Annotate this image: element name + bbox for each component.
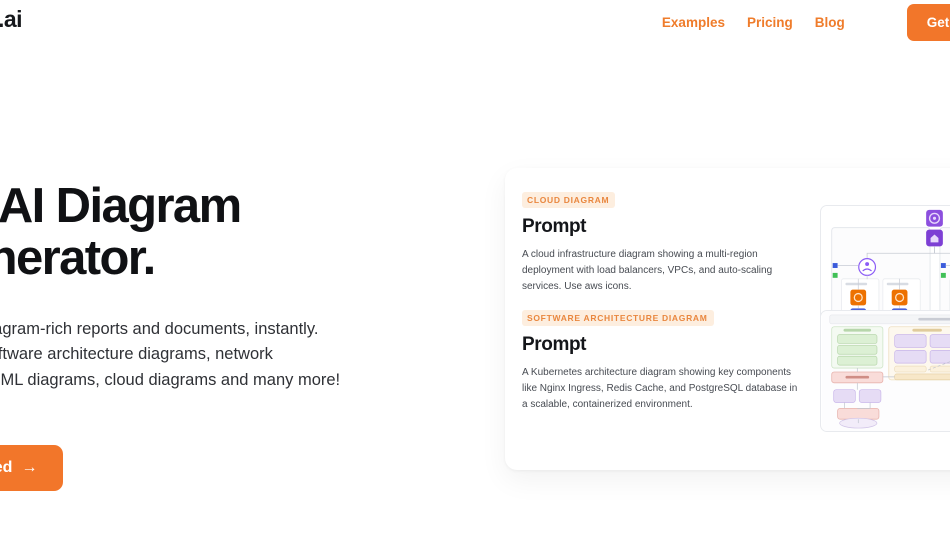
nav-link-blog[interactable]: Blog bbox=[815, 15, 845, 30]
hero-subtitle-line-1: te diagram-rich reports and documents, i… bbox=[0, 317, 470, 343]
arrow-right-icon: → bbox=[21, 459, 37, 477]
prompt-card-text: CLOUD DIAGRAM Prompt A cloud infrastruct… bbox=[505, 168, 823, 296]
header-get-started-button[interactable]: Get S bbox=[907, 4, 950, 41]
hero-subtitle-line-3: ns, UML diagrams, cloud diagrams and man… bbox=[0, 368, 470, 394]
status-badge: SOFTWARE ARCHITECTURE DIAGRAM bbox=[522, 310, 714, 326]
prompt-card-title: Prompt bbox=[522, 216, 801, 238]
site-header: .ai Examples Pricing Blog Get S bbox=[0, 0, 950, 44]
prompt-card-cloud-diagram[interactable]: CLOUD DIAGRAM Prompt A cloud infrastruct… bbox=[505, 168, 950, 286]
prompt-card-title: Prompt bbox=[522, 334, 801, 356]
nav-link-pricing[interactable]: Pricing bbox=[747, 15, 793, 30]
hero-get-started-button[interactable]: tarted → bbox=[0, 445, 63, 491]
kubernetes-architecture-diagram-thumbnail[interactable] bbox=[820, 310, 950, 432]
status-badge: CLOUD DIAGRAM bbox=[522, 192, 615, 208]
prompt-examples-panel: CLOUD DIAGRAM Prompt A cloud infrastruct… bbox=[505, 168, 950, 470]
hero-section: e AI Diagram enerator. te diagram-rich r… bbox=[0, 180, 470, 394]
prompt-card-description: A Kubernetes architecture diagram showin… bbox=[522, 365, 801, 414]
prompt-card-text: SOFTWARE ARCHITECTURE DIAGRAM Prompt A K… bbox=[505, 286, 823, 414]
hero-title-line-1: e AI Diagram bbox=[0, 179, 241, 233]
prompt-card-software-architecture[interactable]: SOFTWARE ARCHITECTURE DIAGRAM Prompt A K… bbox=[505, 286, 950, 414]
landing-page: .ai Examples Pricing Blog Get S e AI Dia… bbox=[0, 0, 950, 534]
hero-subtitle-line-2: te software architecture diagrams, netwo… bbox=[0, 342, 470, 368]
nav-link-examples[interactable]: Examples bbox=[662, 15, 725, 30]
hero-subtitle: te diagram-rich reports and documents, i… bbox=[0, 317, 470, 394]
hero-title-line-2: enerator. bbox=[0, 231, 155, 285]
hero-cta-label: tarted bbox=[0, 459, 12, 477]
main-navigation: Examples Pricing Blog Get S bbox=[662, 0, 950, 44]
logo[interactable]: .ai bbox=[0, 6, 22, 33]
page-title: e AI Diagram enerator. bbox=[0, 180, 470, 285]
